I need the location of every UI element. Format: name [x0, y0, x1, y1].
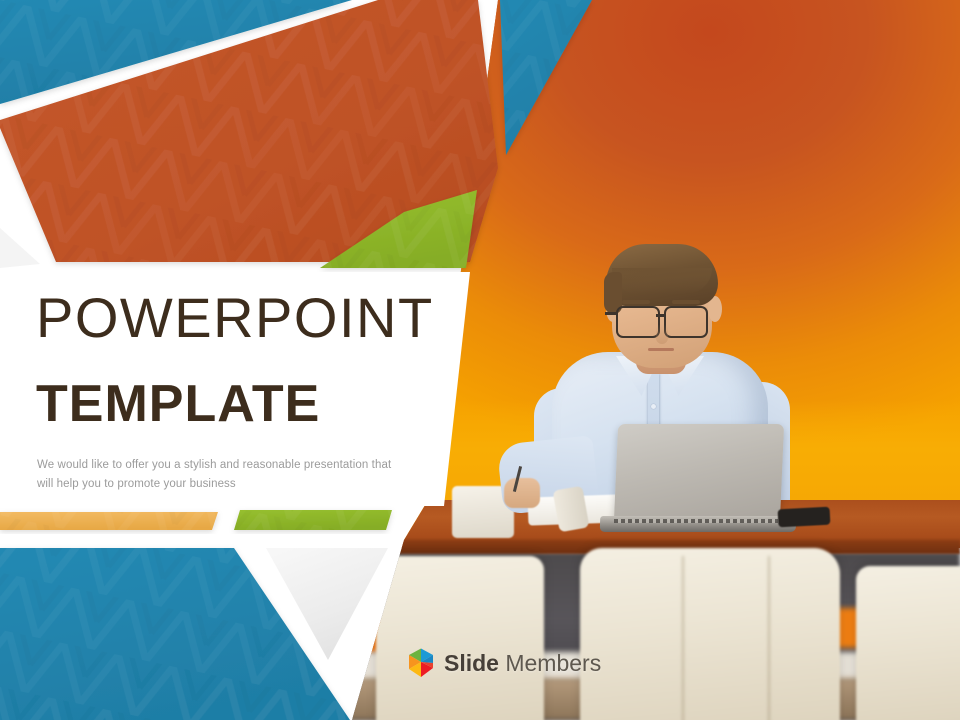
geometric-shape-layer	[0, 0, 960, 720]
slide-members-logo[interactable]: Slide Members	[404, 646, 601, 680]
green-bottom-bar-shape	[234, 510, 392, 530]
slide-members-pinwheel-icon	[404, 646, 438, 680]
white-text-panel-shape	[0, 272, 470, 506]
presentation-slide: POWERPOINT TEMPLATE We would like to off…	[0, 0, 960, 720]
logo-word-members: Members	[499, 650, 601, 676]
white-corner-wedge-shape	[0, 228, 40, 268]
tan-bottom-bar-shape	[0, 512, 218, 530]
blue-center-triangle-shape	[500, 0, 592, 155]
logo-wordmark: Slide Members	[444, 652, 601, 675]
logo-word-slide: Slide	[444, 650, 499, 676]
